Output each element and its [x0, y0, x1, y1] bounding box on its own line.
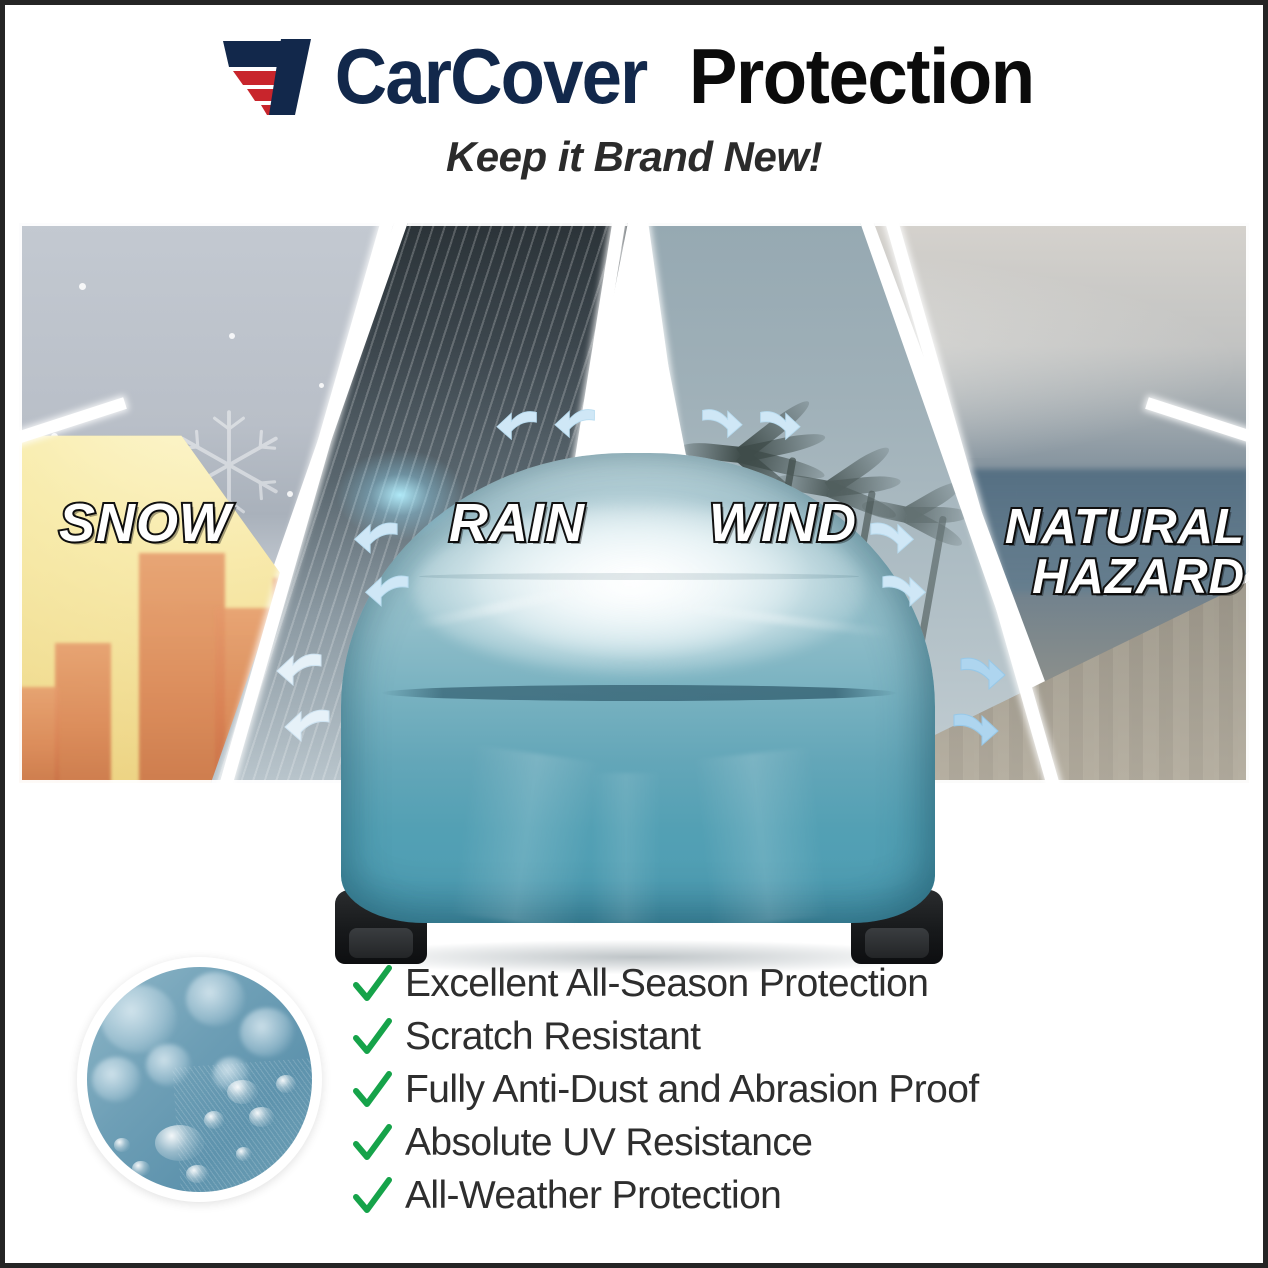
feature-label: Fully Anti-Dust and Abrasion Proof — [405, 1070, 979, 1109]
hood-seam — [419, 573, 859, 580]
covered-car — [305, 425, 965, 970]
deflection-arrow — [345, 518, 401, 568]
deflection-arrow — [950, 709, 1008, 761]
feature-item: All-Weather Protection — [349, 1169, 1149, 1222]
feature-item: Excellent All-Season Protection — [349, 957, 1149, 1010]
deflection-arrow — [267, 649, 325, 701]
panel-label-rain: RAIN — [449, 496, 585, 551]
deflection-arrow — [757, 407, 809, 457]
deflection-arrow — [275, 705, 333, 757]
brand-name-protection: Protection — [689, 37, 1034, 115]
check-icon — [349, 1014, 395, 1060]
check-icon — [349, 961, 395, 1007]
feature-label: All-Weather Protection — [405, 1176, 781, 1215]
deflection-arrow — [488, 407, 540, 457]
check-icon — [349, 1120, 395, 1166]
bumper-seam — [381, 685, 897, 701]
brand-lockup: CarCover Protection — [5, 27, 1263, 125]
deflection-arrow — [867, 518, 923, 568]
deflection-arrow — [879, 571, 935, 621]
brand-name-carcover: CarCover — [335, 37, 647, 115]
deflection-arrow — [546, 405, 598, 455]
feature-label: Scratch Resistant — [405, 1017, 700, 1056]
feature-list: Excellent All-Season Protection Scratch … — [349, 957, 1149, 1222]
panel-label-wind: WIND — [709, 496, 857, 551]
panel-label-snow: SNOW — [59, 496, 231, 551]
water-beading-closeup — [77, 957, 322, 1202]
tagline: Keep it Brand New! — [5, 133, 1263, 181]
deflection-arrow — [957, 653, 1015, 705]
feature-item: Fully Anti-Dust and Abrasion Proof — [349, 1063, 1149, 1116]
panel-label-natural-hazard: NATURAL HAZARD — [977, 503, 1245, 603]
feature-item: Absolute UV Resistance — [349, 1116, 1149, 1169]
feature-label: Absolute UV Resistance — [405, 1123, 812, 1162]
deflection-arrow — [356, 571, 412, 621]
feature-item: Scratch Resistant — [349, 1010, 1149, 1063]
feature-label: Excellent All-Season Protection — [405, 964, 928, 1003]
deflection-arrow — [699, 405, 751, 455]
infographic-page: CarCover Protection Keep it Brand New! — [0, 0, 1268, 1268]
check-icon — [349, 1173, 395, 1219]
check-icon — [349, 1067, 395, 1113]
header: CarCover Protection Keep it Brand New! — [5, 27, 1263, 181]
icarcover-logo-icon — [221, 37, 317, 117]
